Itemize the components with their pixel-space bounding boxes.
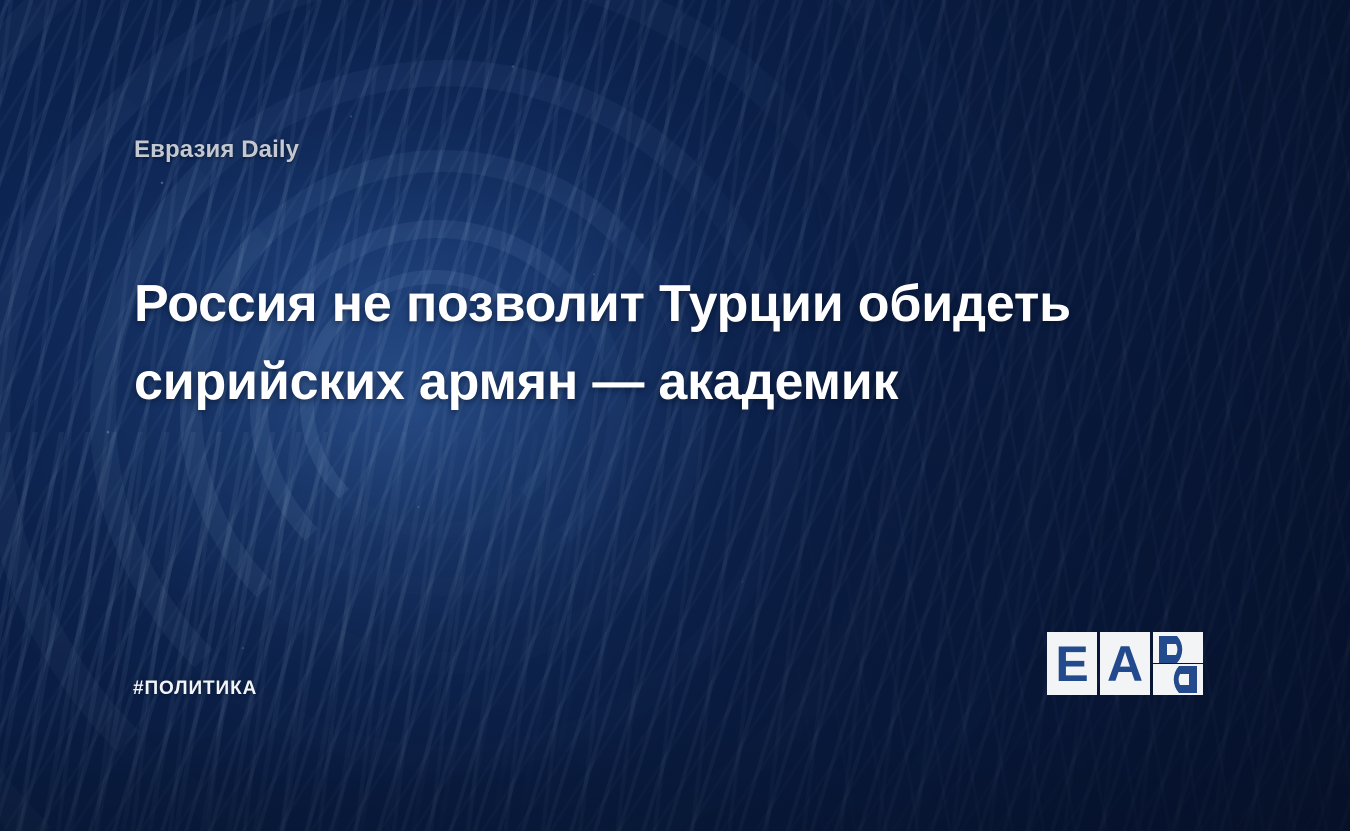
ead-logo: E A (1047, 632, 1203, 695)
category-tag: #ПОЛИТИКА (133, 678, 257, 700)
logo-d-mark-icon (1157, 666, 1199, 695)
logo-letter-e: E (1055, 639, 1088, 689)
logo-d-mark-icon (1157, 634, 1199, 663)
logo-tile-d (1153, 632, 1203, 695)
social-share-card: Евразия Daily Россия не позволит Турции … (0, 0, 1350, 831)
logo-tile-e: E (1047, 632, 1097, 695)
headline-line-1: Россия не позволит Турции обидеть (134, 265, 1144, 343)
logo-letter-a: A (1107, 639, 1143, 689)
logo-d-half-bottom (1153, 664, 1203, 695)
logo-d-half-top (1153, 632, 1203, 663)
logo-tile-a: A (1100, 632, 1150, 695)
headline: Россия не позволит Турции обидеть сирийс… (134, 265, 1144, 421)
brand-name: Евразия Daily (134, 136, 299, 164)
headline-line-2: сирийских армян — академик (134, 343, 1144, 421)
